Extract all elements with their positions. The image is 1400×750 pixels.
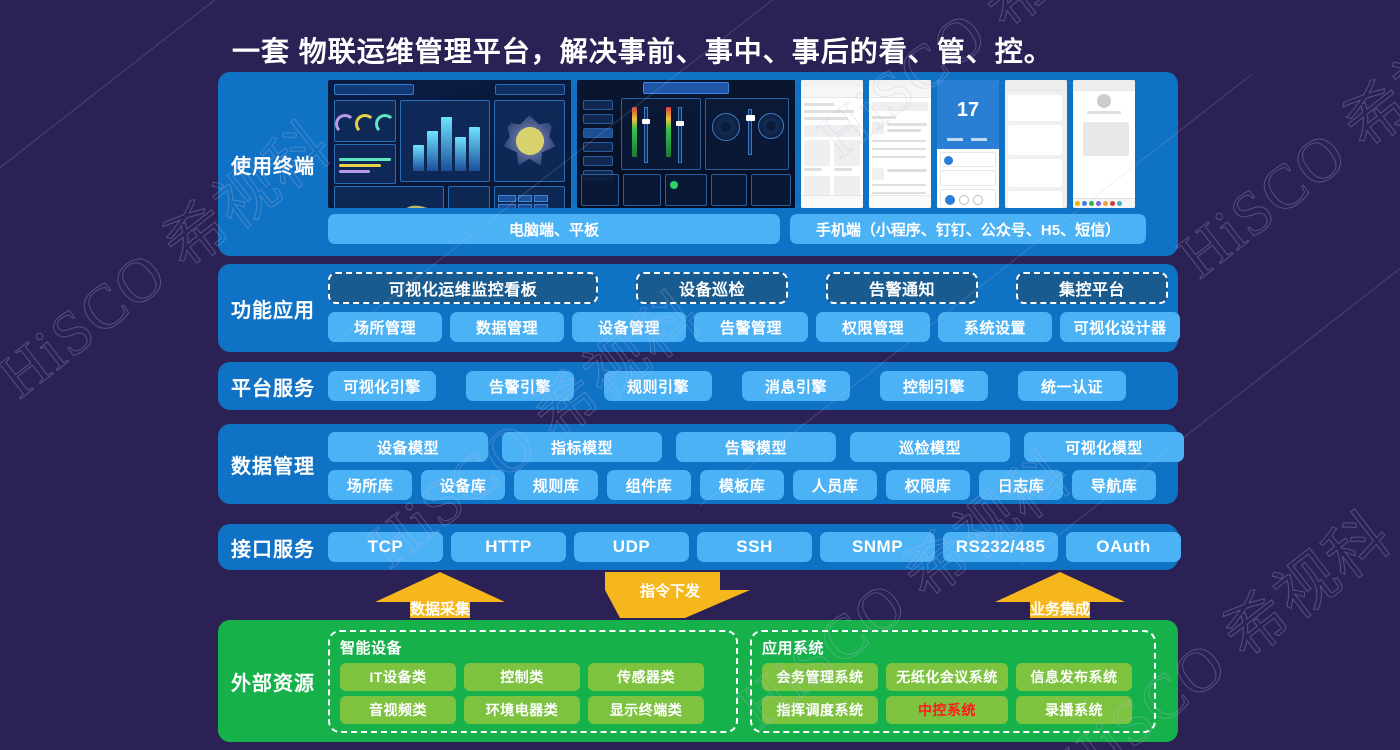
- ext-group-title: 智能设备: [340, 637, 726, 658]
- function-item[interactable]: 系统设置: [938, 312, 1052, 342]
- screenshot-phone-detail-app[interactable]: [869, 80, 931, 208]
- page-title: 一套 物联运维管理平台，解决事前、事中、事后的看、管、控。: [232, 30, 1053, 70]
- screenshot-dashboard-overview[interactable]: [328, 80, 571, 208]
- terminal-captions: 电脑端、平板 手机端（小程序、钉钉、公众号、H5、短信）: [328, 214, 1170, 246]
- platform-item[interactable]: 控制引擎: [880, 371, 988, 401]
- data-store[interactable]: 导航库: [1072, 470, 1156, 500]
- interface-item[interactable]: RS232/485: [943, 532, 1058, 562]
- ext-item[interactable]: 音视频类: [340, 696, 456, 724]
- data-store[interactable]: 权限库: [886, 470, 970, 500]
- data-store[interactable]: 日志库: [979, 470, 1063, 500]
- ext-item[interactable]: 指挥调度系统: [762, 696, 878, 724]
- caption-mobile[interactable]: 手机端（小程序、钉钉、公众号、H5、短信）: [790, 214, 1146, 244]
- interface-items: TCP HTTP UDP SSH SNMP RS232/485 OAuth: [328, 532, 1181, 562]
- terminal-screenshots: 17: [328, 80, 1170, 208]
- featured-app[interactable]: 设备巡检: [636, 272, 788, 304]
- data-store[interactable]: 设备库: [421, 470, 505, 500]
- function-item[interactable]: 数据管理: [450, 312, 564, 342]
- data-store[interactable]: 模板库: [700, 470, 784, 500]
- data-store[interactable]: 规则库: [514, 470, 598, 500]
- data-model[interactable]: 设备模型: [328, 432, 488, 462]
- function-item[interactable]: 权限管理: [816, 312, 930, 342]
- platform-item[interactable]: 可视化引擎: [328, 371, 436, 401]
- platform-items: 可视化引擎 告警引擎 规则引擎 消息引擎 控制引擎 统一认证: [328, 371, 1126, 401]
- arrow-label: 指令下发: [580, 580, 760, 601]
- ext-group-smart-devices: 智能设备 IT设备类 控制类 传感器类 音视频类 环境电器类 显示终端类: [328, 630, 738, 733]
- screenshot-audio-control-console[interactable]: [577, 80, 795, 208]
- row-label-external: 外部资源: [218, 667, 328, 696]
- data-model[interactable]: 可视化模型: [1024, 432, 1184, 462]
- row-terminals: 使用终端: [218, 72, 1178, 256]
- platform-item[interactable]: 统一认证: [1018, 371, 1126, 401]
- screenshot-phone-chat-app[interactable]: [1005, 80, 1067, 208]
- ext-item[interactable]: 录播系统: [1016, 696, 1132, 724]
- data-store[interactable]: 人员库: [793, 470, 877, 500]
- row-interface: 接口服务 TCP HTTP UDP SSH SNMP RS232/485 OAu…: [218, 524, 1178, 570]
- interface-item[interactable]: SSH: [697, 532, 812, 562]
- row-label-terminals: 使用终端: [218, 150, 328, 179]
- caption-pc[interactable]: 电脑端、平板: [328, 214, 780, 244]
- platform-item[interactable]: 消息引擎: [742, 371, 850, 401]
- data-store[interactable]: 场所库: [328, 470, 412, 500]
- diagram-root: HiSCO 希视科 HiSCO 希视科 HiSCO 希视科 HiSCO 希视科 …: [0, 0, 1400, 750]
- ext-item[interactable]: 信息发布系统: [1016, 663, 1132, 691]
- ext-group-application-systems: 应用系统 会务管理系统 无纸化会议系统 信息发布系统 指挥调度系统 中控系统 录…: [750, 630, 1156, 733]
- row-label-interface: 接口服务: [218, 533, 328, 562]
- interface-item[interactable]: HTTP: [451, 532, 566, 562]
- data-stores: 场所库 设备库 规则库 组件库 模板库 人员库 权限库 日志库 导航库: [328, 470, 1184, 500]
- arrow-command-dispatch: 指令下发: [580, 572, 760, 618]
- function-item[interactable]: 场所管理: [328, 312, 442, 342]
- function-item[interactable]: 可视化设计器: [1060, 312, 1180, 342]
- row-label-platform: 平台服务: [218, 372, 328, 401]
- featured-apps: 可视化运维监控看板 设备巡检 告警通知 集控平台: [328, 272, 1180, 304]
- arrow-business-integration: 业务集成: [965, 572, 1155, 618]
- screenshot-phone-list-app[interactable]: [801, 80, 863, 208]
- featured-app[interactable]: 告警通知: [826, 272, 978, 304]
- interface-item[interactable]: UDP: [574, 532, 689, 562]
- platform-item[interactable]: 告警引擎: [466, 371, 574, 401]
- ext-item[interactable]: 显示终端类: [588, 696, 704, 724]
- ext-item[interactable]: 环境电器类: [464, 696, 580, 724]
- interface-item[interactable]: TCP: [328, 532, 443, 562]
- arrow-data-collection: 数据采集: [345, 572, 535, 618]
- ext-item[interactable]: IT设备类: [340, 663, 456, 691]
- data-models: 设备模型 指标模型 告警模型 巡检模型 可视化模型: [328, 432, 1184, 462]
- featured-app[interactable]: 可视化运维监控看板: [328, 272, 598, 304]
- arrow-label: 业务集成: [965, 598, 1155, 619]
- row-platform: 平台服务 可视化引擎 告警引擎 规则引擎 消息引擎 控制引擎 统一认证: [218, 362, 1178, 410]
- screenshot-phone-device-app[interactable]: 17: [937, 80, 999, 208]
- watermark-text: HiSCO 希视科: [1155, 0, 1400, 294]
- data-model[interactable]: 指标模型: [502, 432, 662, 462]
- data-model[interactable]: 告警模型: [676, 432, 836, 462]
- featured-app[interactable]: 集控平台: [1016, 272, 1168, 304]
- device-value: 17: [937, 99, 999, 122]
- row-label-data: 数据管理: [218, 450, 328, 479]
- function-items: 场所管理 数据管理 设备管理 告警管理 权限管理 系统设置 可视化设计器: [328, 312, 1180, 342]
- data-model[interactable]: 巡检模型: [850, 432, 1010, 462]
- function-item[interactable]: 设备管理: [572, 312, 686, 342]
- ext-item[interactable]: 传感器类: [588, 663, 704, 691]
- row-label-functions: 功能应用: [218, 294, 328, 323]
- data-store[interactable]: 组件库: [607, 470, 691, 500]
- row-functions: 功能应用 可视化运维监控看板 设备巡检 告警通知 集控平台 场所管理 数据管理 …: [218, 264, 1178, 352]
- platform-item[interactable]: 规则引擎: [604, 371, 712, 401]
- ext-group-title: 应用系统: [762, 637, 1144, 658]
- ext-item[interactable]: 控制类: [464, 663, 580, 691]
- function-item[interactable]: 告警管理: [694, 312, 808, 342]
- interface-item[interactable]: OAuth: [1066, 532, 1181, 562]
- row-external: 外部资源 智能设备 IT设备类 控制类 传感器类 音视频类 环境电器类 显示终端…: [218, 620, 1178, 742]
- ext-item[interactable]: 会务管理系统: [762, 663, 878, 691]
- interface-item[interactable]: SNMP: [820, 532, 935, 562]
- row-data: 数据管理 设备模型 指标模型 告警模型 巡检模型 可视化模型 场所库 设备库 规…: [218, 424, 1178, 504]
- ext-item[interactable]: 无纸化会议系统: [886, 663, 1008, 691]
- arrow-label: 数据采集: [345, 598, 535, 619]
- screenshot-phone-message-app[interactable]: [1073, 80, 1135, 208]
- ext-item-highlighted[interactable]: 中控系统: [886, 696, 1008, 724]
